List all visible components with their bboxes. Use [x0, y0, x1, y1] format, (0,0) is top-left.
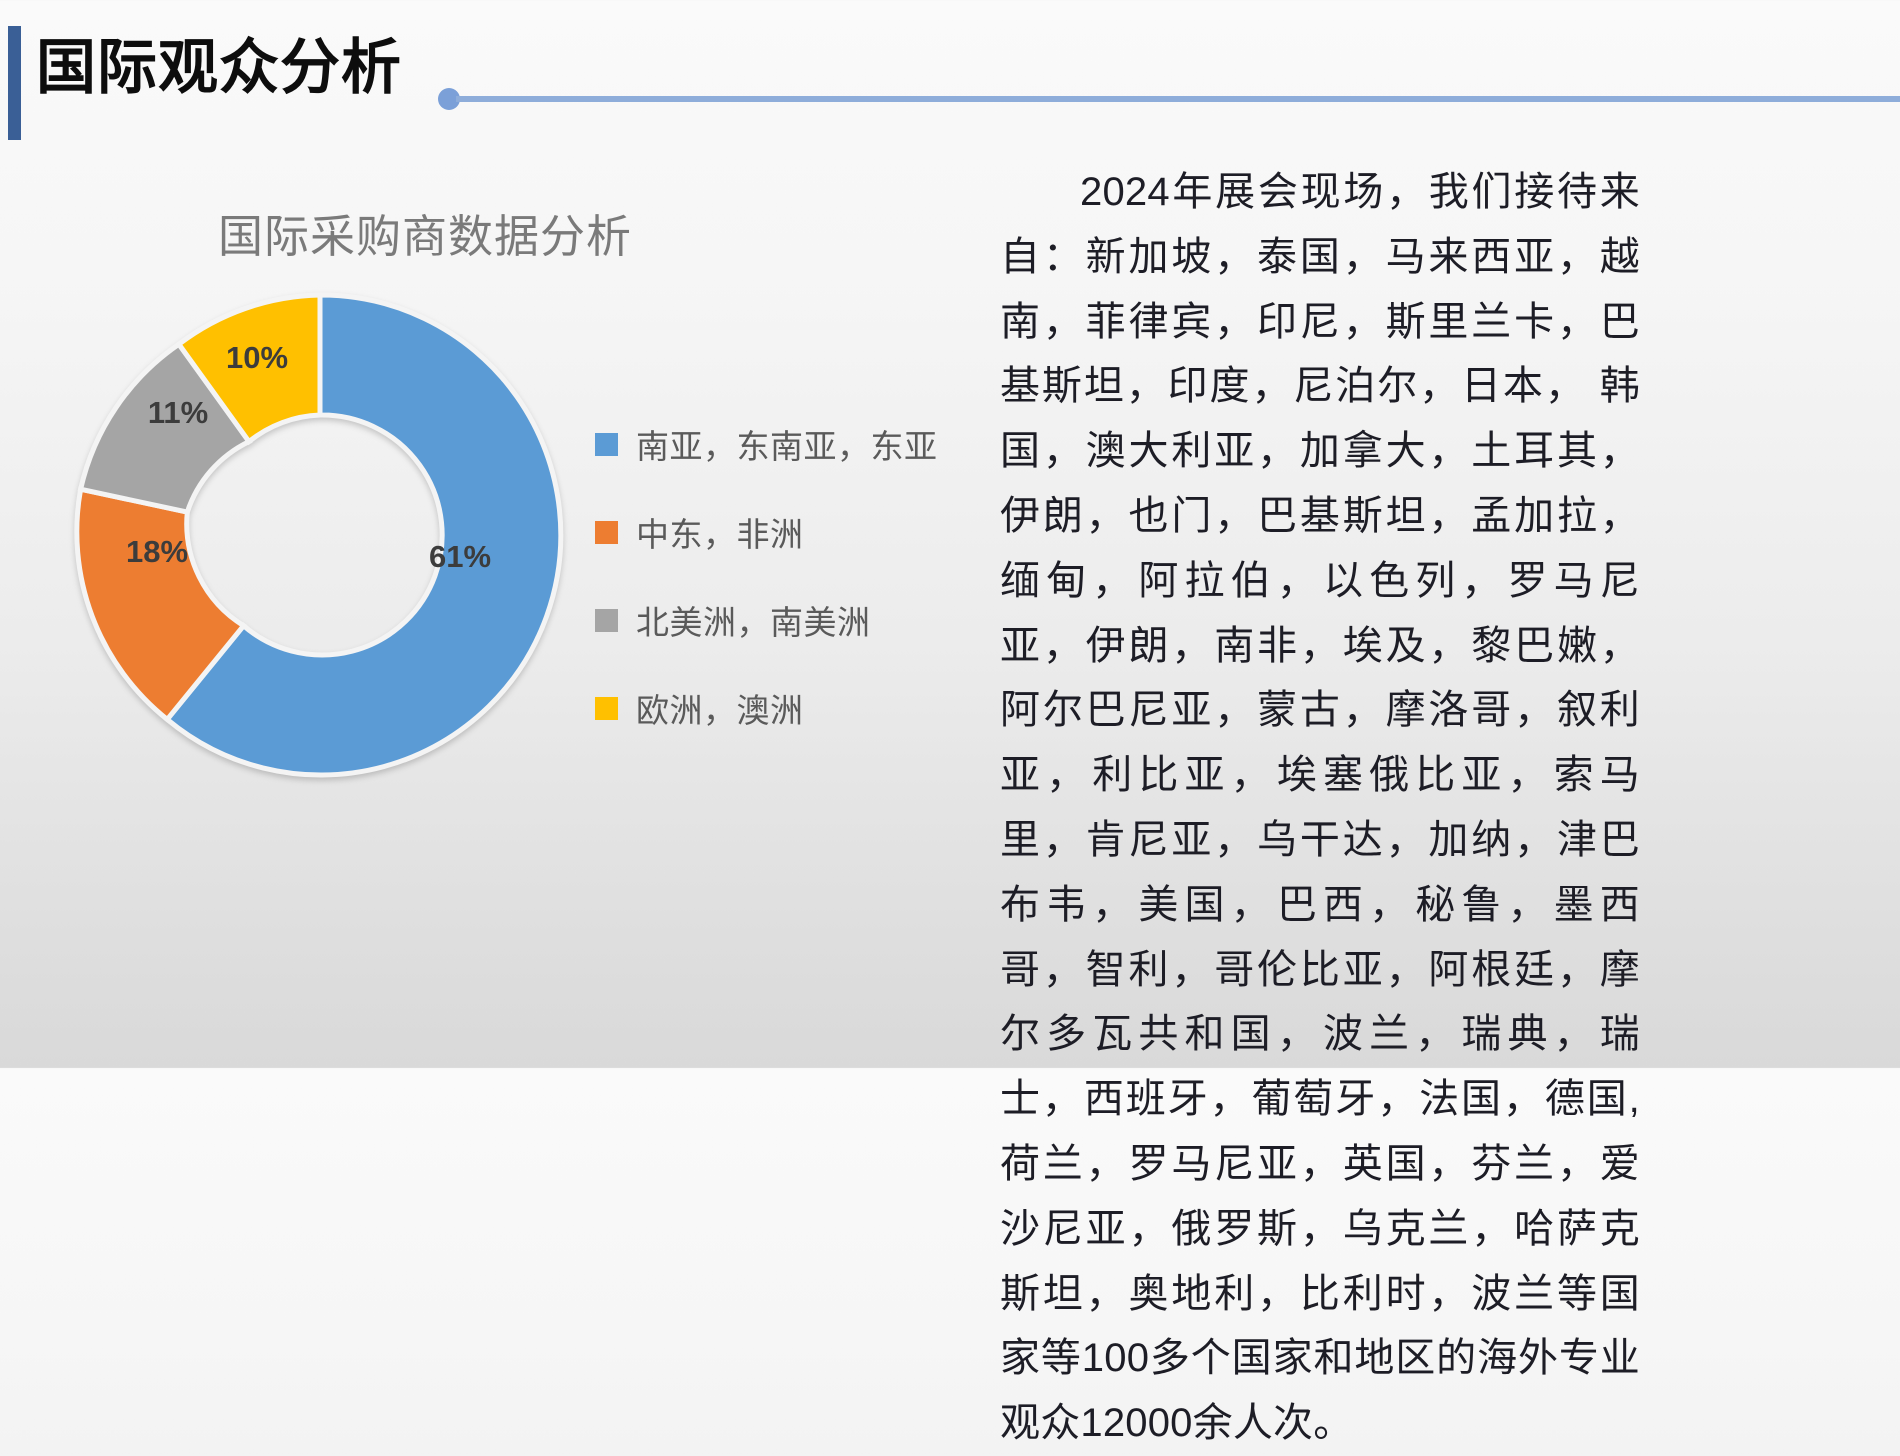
legend-swatch-icon-3	[595, 697, 618, 720]
legend-label-0: 南亚，东南亚，东亚	[636, 420, 938, 468]
legend-label-1: 中东，非洲	[636, 508, 804, 556]
slice-value-label-2: 11%	[148, 395, 208, 431]
legend-label-3: 欧洲，澳洲	[636, 684, 804, 732]
page-title: 国际观众分析	[36, 36, 402, 99]
slide-root: 国际观众分析 国际采购商数据分析 61% 18% 11% 10%	[0, 0, 1900, 1068]
body-paragraph: 2024年展会现场，我们接待来自：新加坡，泰国，马来西亚，越南，菲律宾，印尼，斯…	[1000, 160, 1640, 1456]
chart-title: 国际采购商数据分析	[30, 200, 820, 265]
slice-value-label-1: 18%	[126, 534, 188, 570]
donut-chart: 61% 18% 11% 10%	[65, 280, 575, 790]
legend-item-0[interactable]: 南亚，东南亚，东亚	[595, 400, 955, 488]
legend-swatch-icon-0	[595, 433, 618, 456]
legend-swatch-icon-2	[595, 609, 618, 632]
legend-item-3[interactable]: 欧洲，澳洲	[595, 664, 955, 752]
legend-item-2[interactable]: 北美洲，南美洲	[595, 576, 955, 664]
title-accent-bar	[8, 26, 21, 140]
legend-item-1[interactable]: 中东，非洲	[595, 488, 955, 576]
slice-value-label-3: 10%	[226, 340, 288, 376]
slice-value-label-0: 61%	[429, 539, 491, 575]
chart-legend: 南亚，东南亚，东亚 中东，非洲 北美洲，南美洲 欧洲，澳洲	[595, 400, 955, 752]
chart-panel: 国际采购商数据分析 61% 18% 11% 10% 南亚，东南亚，东亚	[30, 170, 960, 1000]
title-underline-decoration	[456, 96, 1900, 102]
legend-label-2: 北美洲，南美洲	[636, 596, 871, 644]
legend-swatch-icon-1	[595, 521, 618, 544]
